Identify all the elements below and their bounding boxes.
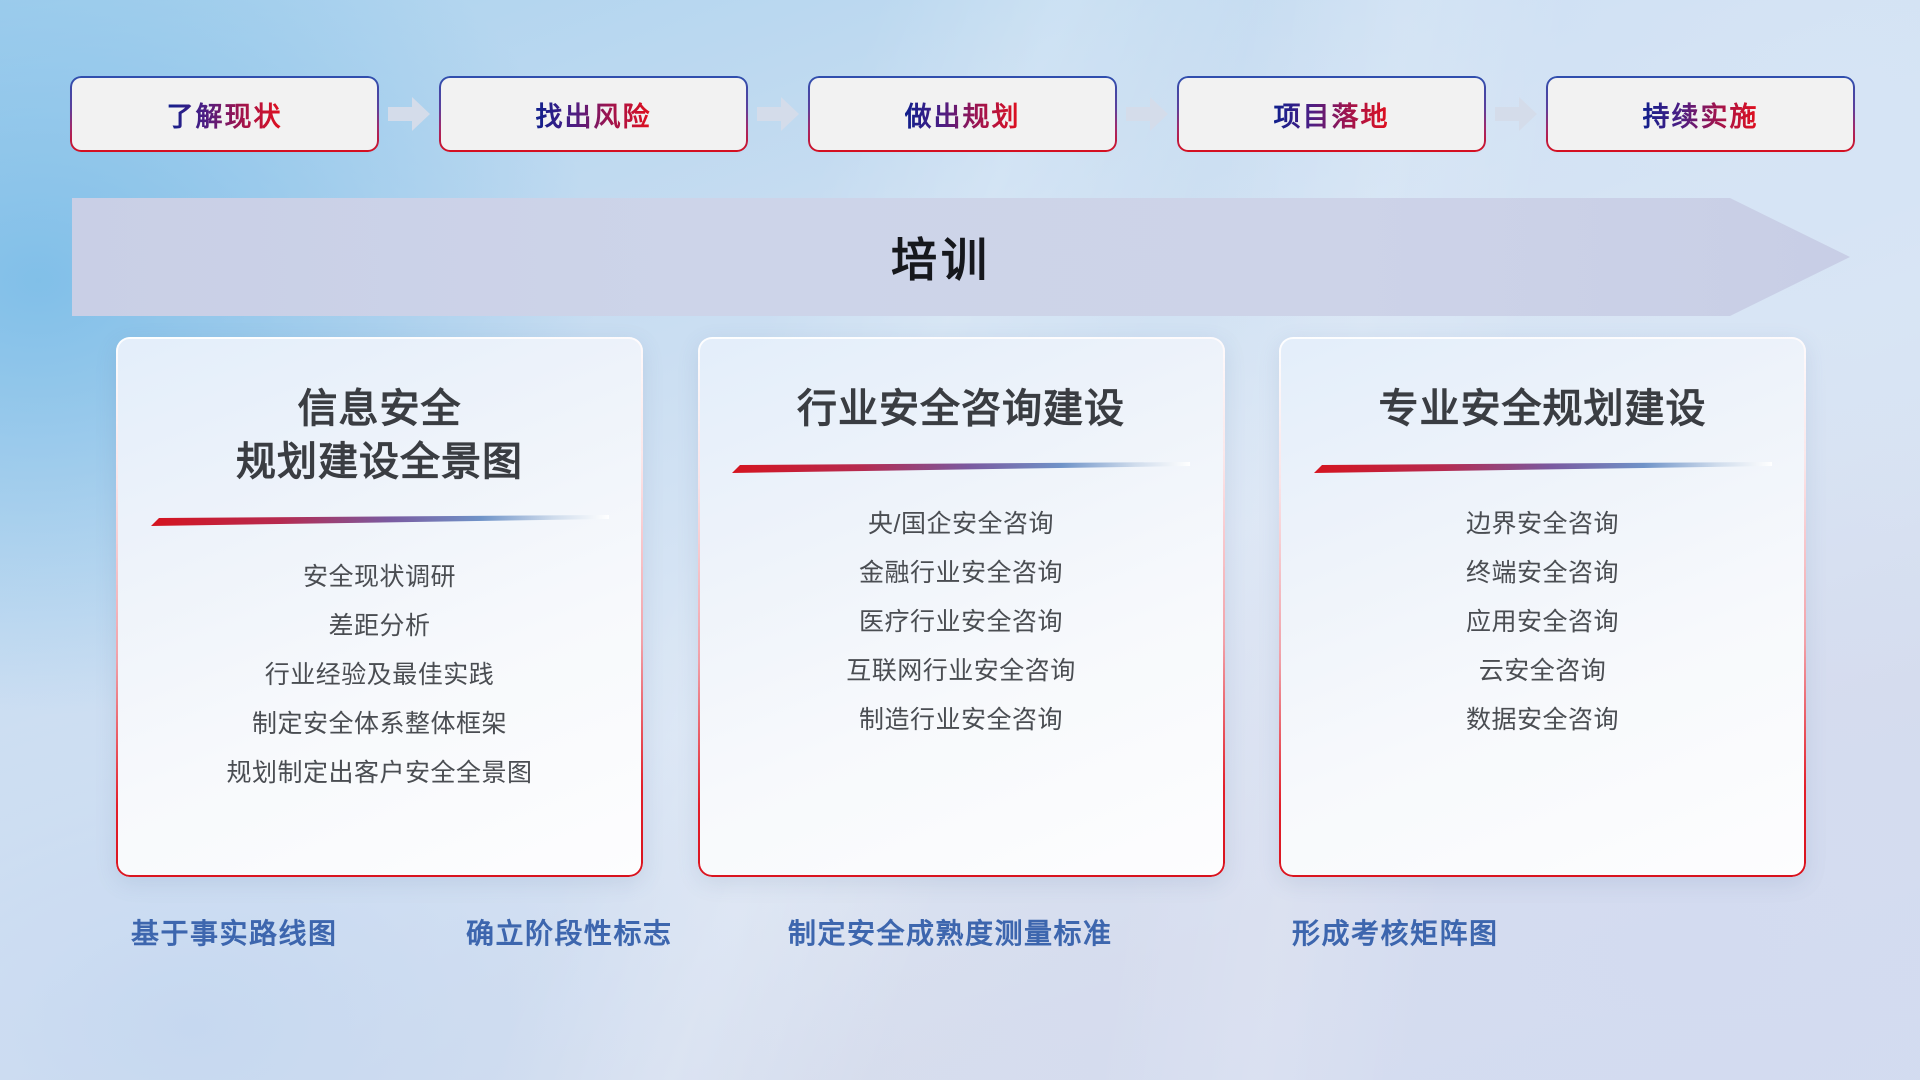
card-1-item-1: 安全现状调研 <box>142 553 617 602</box>
card-industry-security-consulting[interactable]: 行业安全咨询建设 <box>698 337 1225 877</box>
card-1-item-2: 差距分析 <box>142 602 617 651</box>
card-1-title: 信息安全规划建设全景图 <box>236 383 523 489</box>
caption-maturity: 制定安全成熟度测量标准 <box>788 912 1113 952</box>
card-1-item-5: 规划制定出客户安全全景图 <box>142 749 617 798</box>
process-step-4[interactable]: 项目落地 <box>1179 78 1484 150</box>
caption-roadmap: 基于事实路线图 <box>131 912 338 952</box>
process-step-5[interactable]: 持续实施 <box>1548 78 1853 150</box>
card-3-item-4: 云安全咨询 <box>1305 647 1780 696</box>
step-arrow-icon-3 <box>1115 78 1179 150</box>
card-3-title: 专业安全规划建设 <box>1379 383 1707 436</box>
process-step-1-label: 了解现状 <box>167 95 283 134</box>
card-professional-security-planning[interactable]: 专业安全规划建设 <box>1279 337 1806 877</box>
card-2-item-list: 央/国企安全咨询 金融行业安全咨询 医疗行业安全咨询 互联网行业安全咨询 制造行… <box>724 500 1199 745</box>
process-step-row: 了解现状 找出风险 做出规划 项目落地 <box>72 78 1850 150</box>
step-arrow-icon-4 <box>1484 78 1548 150</box>
card-2-title-line-1: 行业安全咨询建设 <box>797 387 1125 431</box>
card-2-item-1: 央/国企安全咨询 <box>724 500 1199 549</box>
card-information-security-blueprint[interactable]: 信息安全规划建设全景图 <box>116 337 643 877</box>
process-step-5-label: 持续实施 <box>1643 95 1759 134</box>
process-step-3-label: 做出规划 <box>905 95 1021 134</box>
card-row: 信息安全规划建设全景图 <box>116 337 1806 877</box>
card-1-title-line-2: 规划建设全景图 <box>236 440 523 484</box>
card-2-item-4: 互联网行业安全咨询 <box>724 647 1199 696</box>
card-3-item-5: 数据安全咨询 <box>1305 696 1780 745</box>
card-2-item-3: 医疗行业安全咨询 <box>724 598 1199 647</box>
card-3-item-1: 边界安全咨询 <box>1305 500 1780 549</box>
card-1-item-3: 行业经验及最佳实践 <box>142 651 617 700</box>
caption-milestone: 确立阶段性标志 <box>466 912 673 952</box>
caption-row: 基于事实路线图 确立阶段性标志 制定安全成熟度测量标准 形成考核矩阵图 <box>0 912 1920 966</box>
card-3-item-2: 终端安全咨询 <box>1305 549 1780 598</box>
card-2-item-2: 金融行业安全咨询 <box>724 549 1199 598</box>
card-1-item-4: 制定安全体系整体框架 <box>142 700 617 749</box>
card-3-divider <box>1314 462 1772 474</box>
card-3-item-3: 应用安全咨询 <box>1305 598 1780 647</box>
card-2-divider <box>732 462 1190 474</box>
slide-canvas: 了解现状 找出风险 做出规划 项目落地 <box>0 0 1920 1080</box>
process-step-2-label: 找出风险 <box>536 95 652 134</box>
step-arrow-icon-1 <box>377 78 441 150</box>
card-1-title-line-1: 信息安全 <box>298 387 462 431</box>
card-3-item-list: 边界安全咨询 终端安全咨询 应用安全咨询 云安全咨询 数据安全咨询 <box>1305 500 1780 745</box>
card-2-title: 行业安全咨询建设 <box>797 383 1125 436</box>
card-2-item-5: 制造行业安全咨询 <box>724 696 1199 745</box>
banner-title: 培训 <box>72 198 1850 316</box>
card-1-divider <box>151 515 609 527</box>
training-banner: 培训 <box>72 198 1850 316</box>
process-step-4-label: 项目落地 <box>1274 95 1390 134</box>
caption-matrix: 形成考核矩阵图 <box>1292 912 1499 952</box>
process-step-2[interactable]: 找出风险 <box>441 78 746 150</box>
step-arrow-icon-2 <box>746 78 810 150</box>
process-step-3[interactable]: 做出规划 <box>810 78 1115 150</box>
process-step-1[interactable]: 了解现状 <box>72 78 377 150</box>
card-1-item-list: 安全现状调研 差距分析 行业经验及最佳实践 制定安全体系整体框架 规划制定出客户… <box>142 553 617 798</box>
card-3-title-line-1: 专业安全规划建设 <box>1379 387 1707 431</box>
